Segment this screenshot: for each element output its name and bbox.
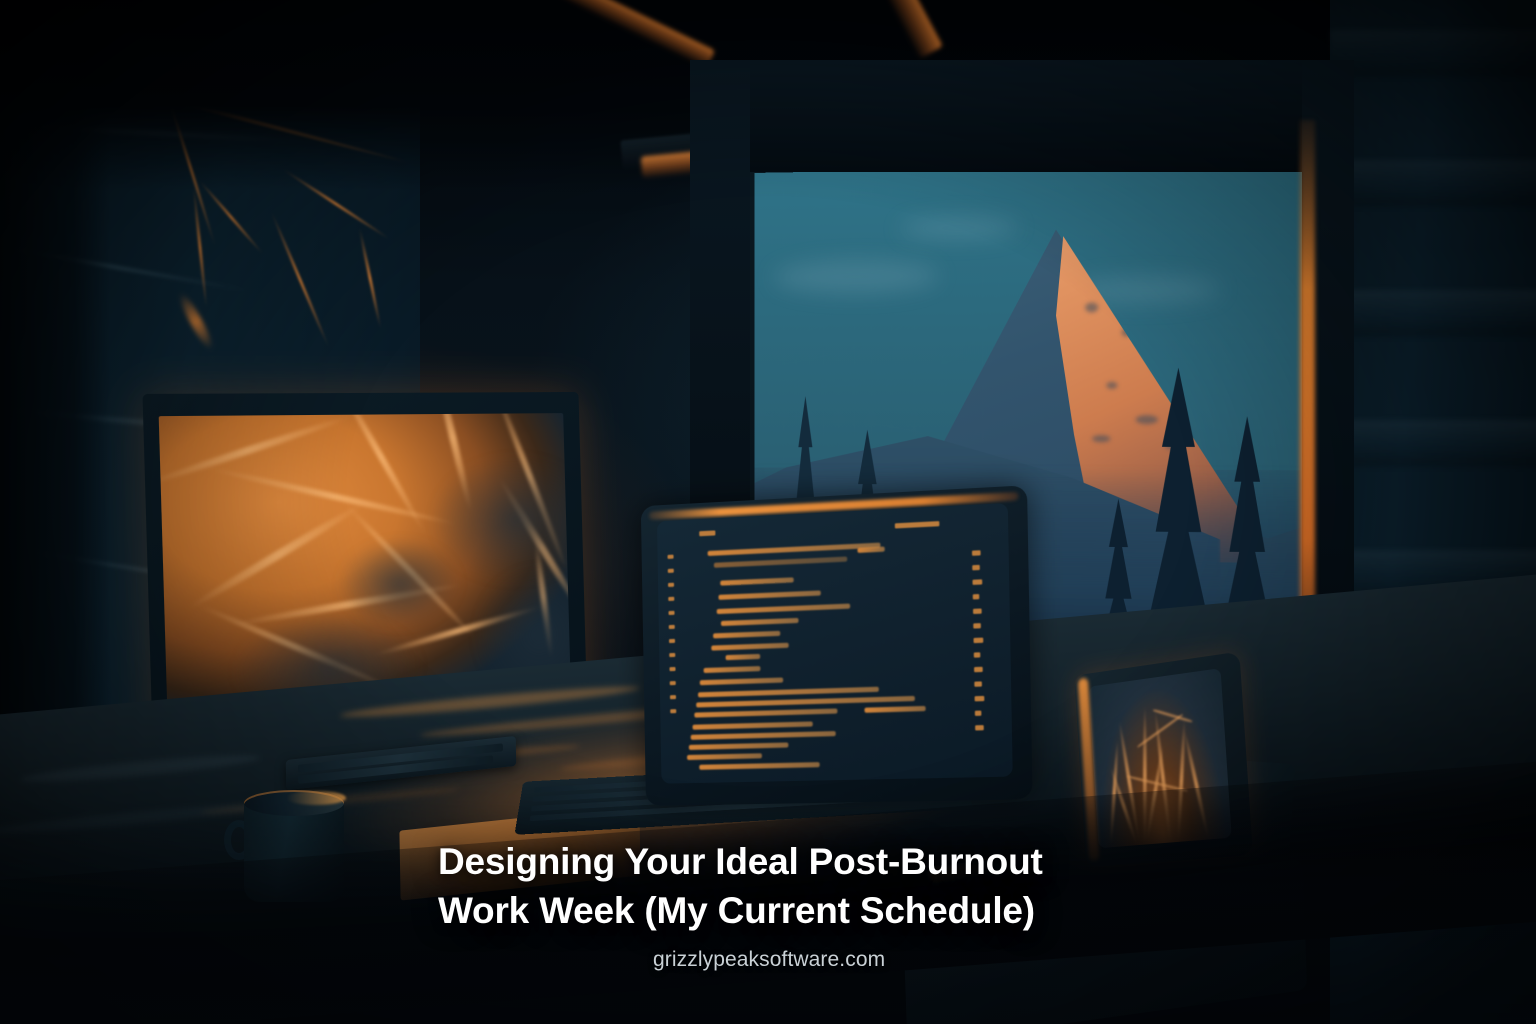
page-title: Designing Your Ideal Post-Burnout Work W… [438,838,1198,936]
site-url: grizzlypeaksoftware.com [653,948,885,972]
monitor-screen [159,413,571,711]
hero-banner: Designing Your Ideal Post-Burnout Work W… [0,0,1536,1024]
laptop-screen [657,503,1013,784]
mug-rim-highlight [286,791,346,805]
title-line-1: Designing Your Ideal Post-Burnout [438,838,1198,887]
title-block: Designing Your Ideal Post-Burnout Work W… [438,838,1198,936]
laptop[interactable] [641,485,1033,806]
window-frame-top [690,60,1350,172]
title-line-2: Work Week (My Current Schedule) [438,887,1198,936]
